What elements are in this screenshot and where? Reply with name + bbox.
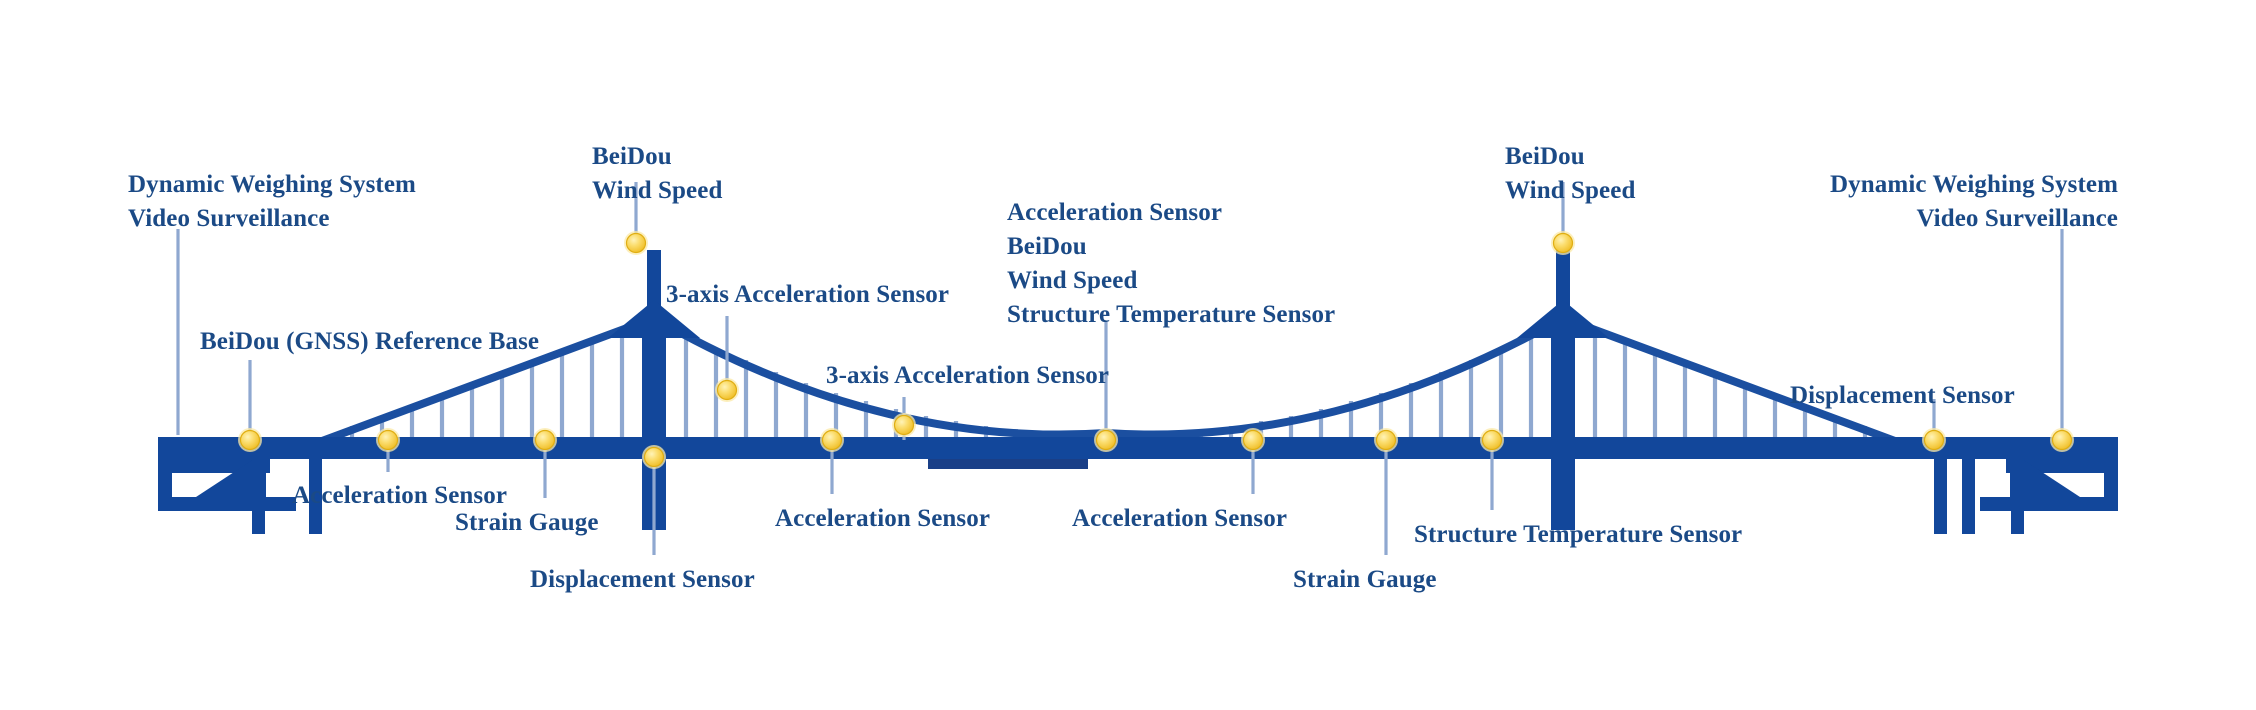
- sensor-marker-dot: [718, 381, 737, 400]
- bridge-sensor-diagram: Dynamic Weighing System Video Surveillan…: [0, 0, 2256, 710]
- label-strain-gauge-left: Strain Gauge: [455, 506, 599, 540]
- label-displacement-right: Displacement Sensor: [1790, 379, 2015, 413]
- sensor-marker-dot: [627, 234, 646, 253]
- sensor-marker-dot: [645, 448, 664, 467]
- sensor-marker-dot: [1925, 431, 1944, 450]
- marker-displacement-left[interactable]: [642, 445, 666, 469]
- marker-strain-right[interactable]: [1374, 428, 1398, 452]
- label-acceleration-sensor-3: Acceleration Sensor: [1072, 502, 1287, 536]
- sensor-marker-dot: [823, 431, 842, 450]
- sensor-marker-dot: [895, 416, 914, 435]
- sensor-marker-dot: [2053, 431, 2072, 450]
- sensor-marker-dot: [379, 431, 398, 450]
- sensor-marker-dot: [536, 431, 555, 450]
- marker-three-axis-right[interactable]: [892, 413, 916, 437]
- marker-strain-left[interactable]: [533, 428, 557, 452]
- label-beidou-gnss-reference: BeiDou (GNSS) Reference Base: [200, 325, 539, 359]
- marker-dynamic-weighing-left[interactable]: [238, 428, 262, 452]
- sensor-marker-dot: [241, 431, 260, 450]
- sensor-marker-dot: [1483, 431, 1502, 450]
- label-three-axis-accel-right: 3-axis Acceleration Sensor: [826, 359, 1109, 393]
- sensor-marker-dot: [1377, 431, 1396, 450]
- sensor-marker-dot: [1097, 431, 1116, 450]
- bridge-deck: [158, 437, 2118, 469]
- marker-structure-temp[interactable]: [1480, 428, 1504, 452]
- label-acceleration-sensor-2: Acceleration Sensor: [775, 502, 990, 536]
- marker-acceleration-2[interactable]: [820, 428, 844, 452]
- sensor-marker-dot: [1244, 431, 1263, 450]
- marker-three-axis-left[interactable]: [715, 378, 739, 402]
- right-main-cable: [1106, 318, 1563, 435]
- marker-displacement-right[interactable]: [1922, 428, 1946, 452]
- marker-dynamic-weighing-right[interactable]: [2050, 428, 2074, 452]
- label-structure-temp-right: Structure Temperature Sensor: [1414, 518, 1742, 552]
- marker-center-cluster[interactable]: [1094, 428, 1118, 452]
- sensor-marker-dot: [1554, 234, 1573, 253]
- label-displacement-left: Displacement Sensor: [530, 563, 755, 597]
- marker-acceleration-1[interactable]: [376, 428, 400, 452]
- marker-acceleration-3[interactable]: [1241, 428, 1265, 452]
- label-three-axis-accel-left: 3-axis Acceleration Sensor: [666, 278, 949, 312]
- label-strain-gauge-right: Strain Gauge: [1293, 563, 1437, 597]
- label-dynamic-weighing-right: Dynamic Weighing System Video Surveillan…: [0, 168, 2118, 236]
